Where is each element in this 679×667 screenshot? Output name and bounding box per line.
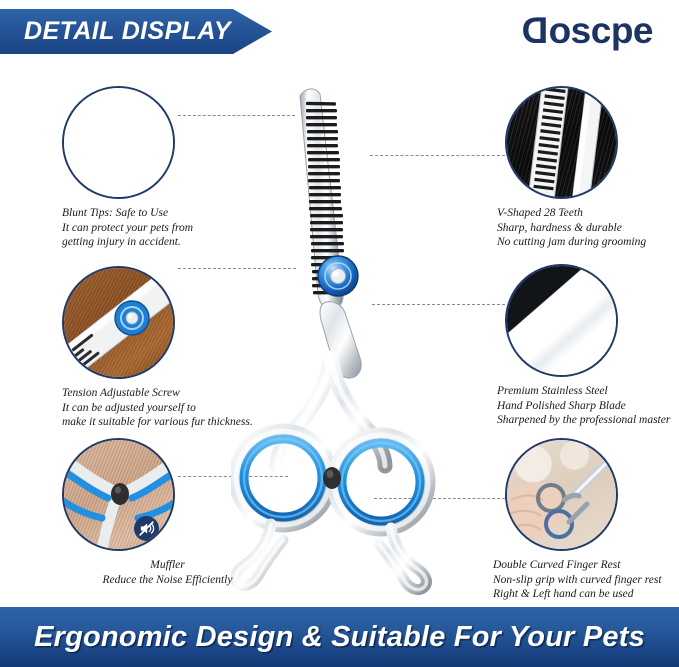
footer-tagline: Ergonomic Design & Suitable For Your Pet… <box>34 621 645 654</box>
tension-screw-closeup-icon <box>62 266 175 379</box>
detail-display-infographic: DETAIL DISPLAY Doscpe <box>0 0 679 667</box>
callout-muffler-text: Muffler Reduce the Noise Efficiently <box>58 558 277 587</box>
callout-blunt-tips-text: Blunt Tips: Safe to Use It can protect y… <box>62 206 277 250</box>
hand-holding-scissors-icon <box>505 438 618 551</box>
callout-blunt-tips: Blunt Tips: Safe to Use It can protect y… <box>62 86 277 250</box>
callout-premium-steel-text: Premium Stainless Steel Hand Polished Sh… <box>497 384 679 428</box>
brand-logo-mirrored-d: D <box>522 8 548 53</box>
callout-tension-screw-text: Tension Adjustable Screw It can be adjus… <box>62 386 277 430</box>
muffler-closeup-icon <box>62 438 175 551</box>
callout-premium-steel: Premium Stainless Steel Hand Polished Sh… <box>497 264 679 428</box>
callout-muffler: Muffler Reduce the Noise Efficiently <box>62 438 277 587</box>
callout-finger-rest: Double Curved Finger Rest Non-slip grip … <box>497 438 679 602</box>
header: DETAIL DISPLAY Doscpe <box>0 0 679 62</box>
brand-logo: Doscpe <box>522 8 653 53</box>
detail-display-banner: DETAIL DISPLAY <box>0 9 272 54</box>
brand-logo-text: oscpe <box>549 10 653 51</box>
callout-v-shaped-teeth-text: V-Shaped 28 Teeth Sharp, hardness & dura… <box>497 206 679 250</box>
callout-finger-rest-text: Double Curved Finger Rest Non-slip grip … <box>493 558 679 602</box>
mute-icon <box>134 516 159 541</box>
callout-tension-screw: Tension Adjustable Screw It can be adjus… <box>62 266 277 430</box>
polished-blade-closeup-icon <box>505 264 618 377</box>
comb-teeth-closeup-icon <box>62 86 175 199</box>
footer-banner: Ergonomic Design & Suitable For Your Pet… <box>0 607 679 667</box>
blade-teeth-closeup-icon <box>505 86 618 199</box>
callout-v-shaped-teeth: V-Shaped 28 Teeth Sharp, hardness & dura… <box>497 86 679 250</box>
detail-display-label: DETAIL DISPLAY <box>24 17 231 46</box>
